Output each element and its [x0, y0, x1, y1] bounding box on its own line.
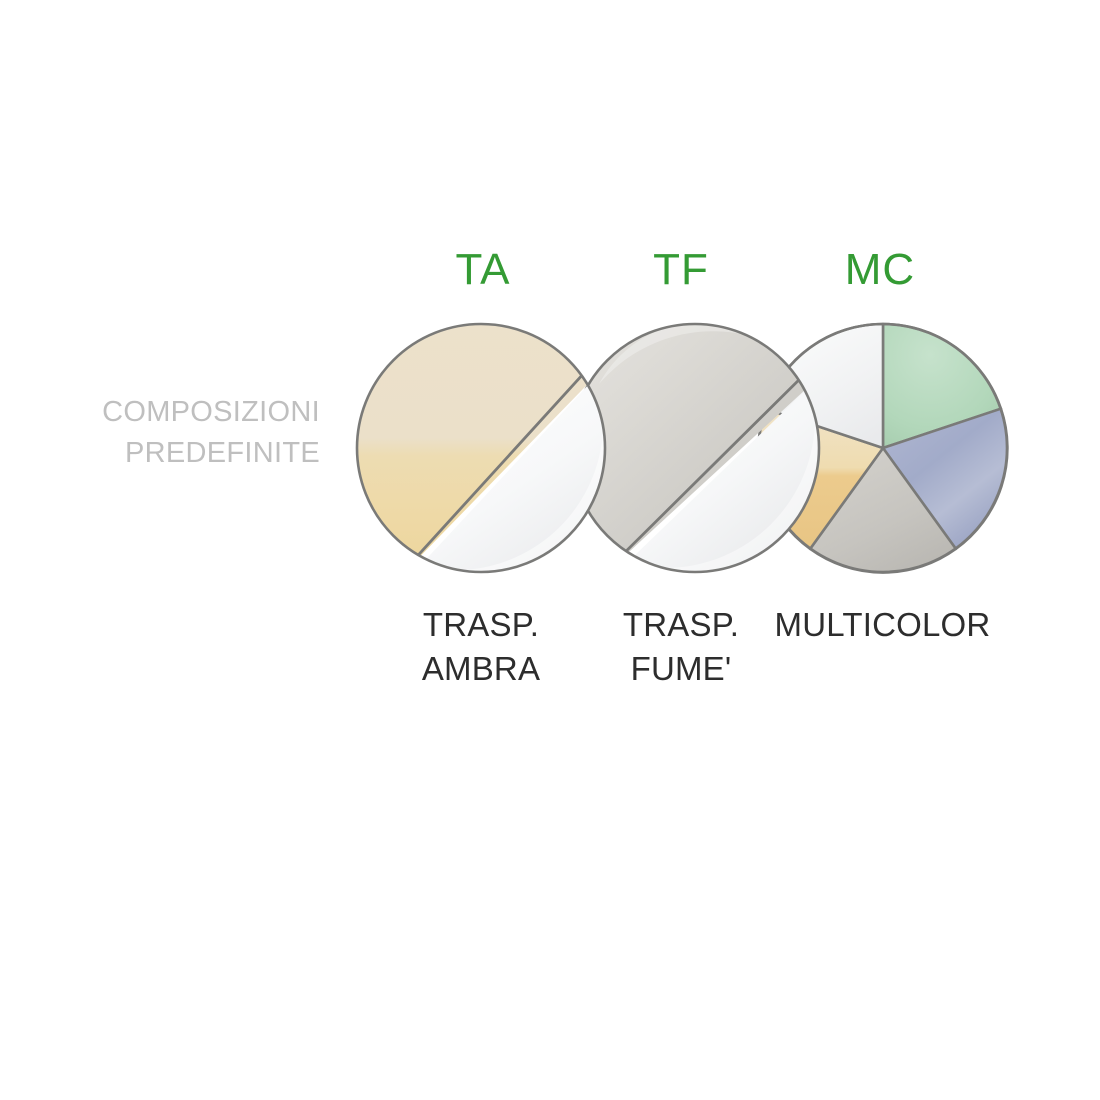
swatch-name-tf: TRASP. FUME' — [581, 603, 781, 690]
swatch-name-mc: MULTICOLOR — [760, 603, 1005, 647]
swatch-name-tf-line-2: FUME' — [581, 647, 781, 691]
swatch-name-ta-line-1: TRASP. — [381, 603, 581, 647]
section-caption-line-2: PREDEFINITE — [20, 433, 320, 474]
swatch-name-mc-line-1: MULTICOLOR — [760, 603, 1005, 647]
swatch-name-ta-line-2: AMBRA — [381, 647, 581, 691]
code-label-ta[interactable]: TA — [398, 248, 568, 292]
composition-diagram: COMPOSIZIONI PREDEFINITE TA TF MC — [0, 0, 1100, 1100]
section-caption: COMPOSIZIONI PREDEFINITE — [20, 392, 320, 474]
swatch-name-ta: TRASP. AMBRA — [381, 603, 581, 690]
code-label-tf[interactable]: TF — [596, 248, 766, 292]
swatch-name-tf-line-1: TRASP. — [581, 603, 781, 647]
swatch-circle-ta[interactable] — [355, 322, 607, 574]
code-label-mc[interactable]: MC — [795, 248, 965, 292]
section-caption-line-1: COMPOSIZIONI — [20, 392, 320, 433]
